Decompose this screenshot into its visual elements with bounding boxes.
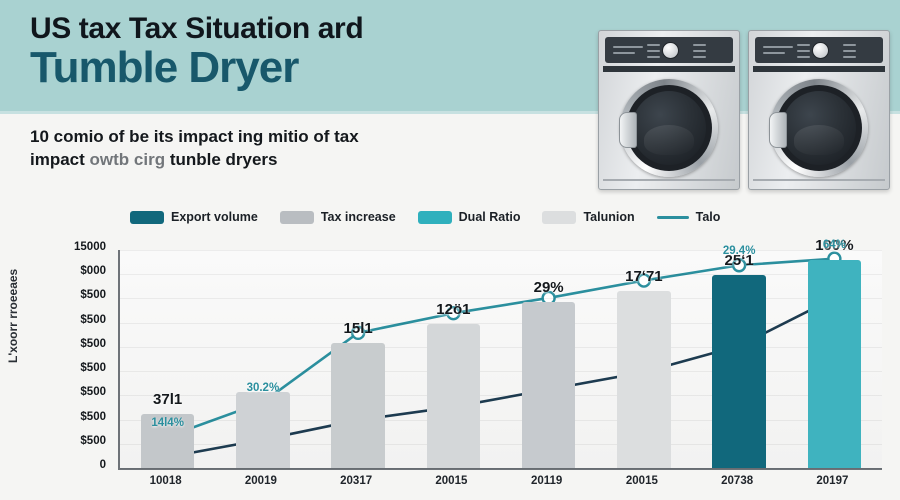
y-tick-label: $500 <box>80 435 106 447</box>
x-tick-label: 20317 <box>340 475 372 487</box>
y-tick-label: 0 <box>100 459 106 471</box>
chart-legend: Export volumeTax increaseDual RatioTalun… <box>130 210 720 224</box>
legend-label: Talunion <box>583 210 634 224</box>
gridline <box>120 371 882 372</box>
legend-swatch-icon <box>130 211 164 224</box>
chart: Export volumeTax increaseDual RatioTalun… <box>0 200 900 500</box>
bar-20197[interactable] <box>808 260 861 468</box>
line-point-label: 64% <box>823 239 846 251</box>
y-tick-label: $500 <box>80 314 106 326</box>
y-axis-tick-labels: 15000$000$500$500$500$500$500$500$5000 <box>38 242 106 470</box>
door-handle-icon <box>619 112 637 148</box>
y-tick-label: $500 <box>80 386 106 398</box>
legend-item-0[interactable]: Export volume <box>130 210 258 224</box>
gridline <box>120 444 882 445</box>
x-tick-label: 20119 <box>531 475 562 487</box>
gridline <box>120 298 882 299</box>
subtitle-line-2: impact owtb cirg tunble dryers <box>30 148 500 171</box>
door-handle-icon <box>769 112 787 148</box>
y-tick-label: 15000 <box>74 241 106 253</box>
y-tick-label: $500 <box>80 289 106 301</box>
bar-20317[interactable] <box>331 343 384 468</box>
plot-area: 37l115l112ö129%17ʻ7125ʻ1100%14l4%30.2%29… <box>118 250 882 470</box>
control-panel <box>755 37 883 63</box>
bar-value-label: 17ʻ71 <box>625 268 663 285</box>
tumble-dryer-icon-right <box>748 30 890 190</box>
legend-item-1[interactable]: Tax increase <box>280 210 396 224</box>
plot-wrapper: L'xoorr rroeeaes 15000$000$500$500$500$5… <box>0 245 900 500</box>
control-panel <box>605 37 733 63</box>
line-point-label: 30.2% <box>247 382 280 394</box>
x-tick-label: 20738 <box>721 475 753 487</box>
subtitle-line-1: 10 comio of be its impact ing mitio of t… <box>30 125 500 148</box>
legend-label: Talo <box>696 210 721 224</box>
y-tick-label: $000 <box>80 265 106 277</box>
tumble-dryer-illustration <box>598 30 894 188</box>
bar-20119[interactable] <box>522 302 575 468</box>
legend-line-icon <box>657 216 689 219</box>
subtitle-line-2-part-a: impact <box>30 150 90 169</box>
gridline <box>120 468 882 469</box>
line-point-label: 29.4% <box>723 245 756 257</box>
dryer-door-icon <box>770 79 868 177</box>
gridline <box>120 420 882 421</box>
dial-knob-icon <box>662 42 679 59</box>
bar-value-label: 29% <box>534 279 564 296</box>
subtitle-line-2-part-b: owtb cirg <box>90 150 170 169</box>
legend-swatch-icon <box>418 211 452 224</box>
gridline <box>120 323 882 324</box>
line-series-layer <box>120 250 882 468</box>
dryer-door-icon <box>620 79 718 177</box>
tumble-dryer-icon-left <box>598 30 740 190</box>
line-point-label: 14l4% <box>151 417 184 429</box>
legend-label: Dual Ratio <box>459 210 521 224</box>
gridline <box>120 274 882 275</box>
gridline <box>120 395 882 396</box>
bar-20738[interactable] <box>712 275 765 468</box>
y-axis-title: L'xoorr rroeeaes <box>6 223 20 363</box>
bar-value-label: 15l1 <box>344 320 373 337</box>
bar-value-label: 12ö1 <box>436 301 470 318</box>
x-tick-label: 20015 <box>435 475 467 487</box>
bar-20019[interactable] <box>236 392 289 468</box>
legend-item-3[interactable]: Talunion <box>542 210 634 224</box>
legend-label: Export volume <box>171 210 258 224</box>
y-tick-label: $500 <box>80 362 106 374</box>
y-tick-label: $500 <box>80 411 106 423</box>
bar-20015[interactable] <box>617 291 670 468</box>
dial-knob-icon <box>812 42 829 59</box>
subtitle-line-2-part-c: tunble dryers <box>170 150 278 169</box>
x-tick-label: 20019 <box>245 475 277 487</box>
x-tick-label: 20197 <box>816 475 848 487</box>
gridline <box>120 347 882 348</box>
title-block: US tax Tax Situation ard Tumble Dryer <box>30 12 590 92</box>
x-tick-label: 10018 <box>150 475 182 487</box>
page-title-line2: Tumble Dryer <box>30 44 590 92</box>
gridline <box>120 250 882 251</box>
legend-item-4[interactable]: Talo <box>657 210 721 224</box>
x-tick-label: 20015 <box>626 475 658 487</box>
subtitle-block: 10 comio of be its impact ing mitio of t… <box>30 125 500 171</box>
legend-swatch-icon <box>542 211 576 224</box>
infographic-canvas: US tax Tax Situation ard Tumble Dryer 10… <box>0 0 900 500</box>
legend-item-2[interactable]: Dual Ratio <box>418 210 521 224</box>
page-title-line1: US tax Tax Situation ard <box>30 12 590 46</box>
y-tick-label: $500 <box>80 338 106 350</box>
bar-value-label: 37l1 <box>153 391 182 408</box>
legend-label: Tax increase <box>321 210 396 224</box>
legend-swatch-icon <box>280 211 314 224</box>
bar-20015[interactable] <box>427 324 480 468</box>
x-axis-tick-labels: 1001820019203172001520119200152073820197 <box>118 475 880 499</box>
